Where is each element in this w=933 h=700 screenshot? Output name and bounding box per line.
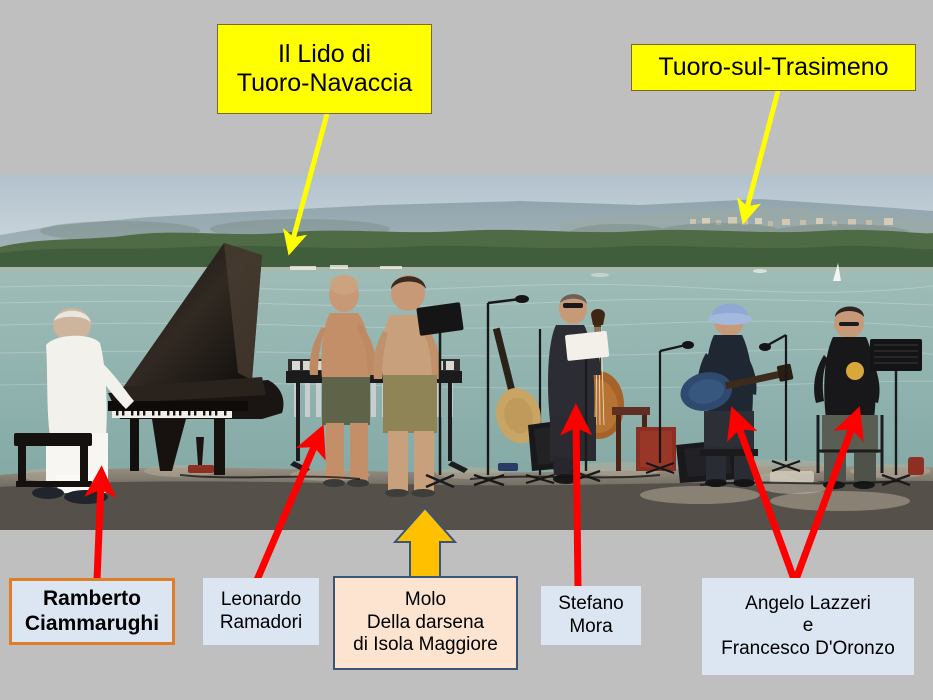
callout-molo-della-darsena[interactable]: Molo Della darsena di Isola Maggiore [333,576,518,670]
callout-ramberto-ciammarughi[interactable]: Ramberto Ciammarughi [9,578,175,645]
callout-stefano-mora[interactable]: Stefano Mora [541,586,641,645]
callout-angelo-lazzeri-francesco-doronzo[interactable]: Angelo Lazzeri e Francesco D'Oronzo [702,578,914,675]
callout-leonardo-ramadori[interactable]: Leonardo Ramadori [203,578,319,645]
callout-tuoro-sul-trasimeno[interactable]: Tuoro-sul-Trasimeno [631,44,916,91]
slide-canvas: Il Lido di Tuoro-Navaccia Tuoro-sul-Tras… [0,0,933,700]
lakeside-concert-photo [0,175,933,530]
callout-il-lido-di-tuoro-navaccia[interactable]: Il Lido di Tuoro-Navaccia [217,24,432,114]
